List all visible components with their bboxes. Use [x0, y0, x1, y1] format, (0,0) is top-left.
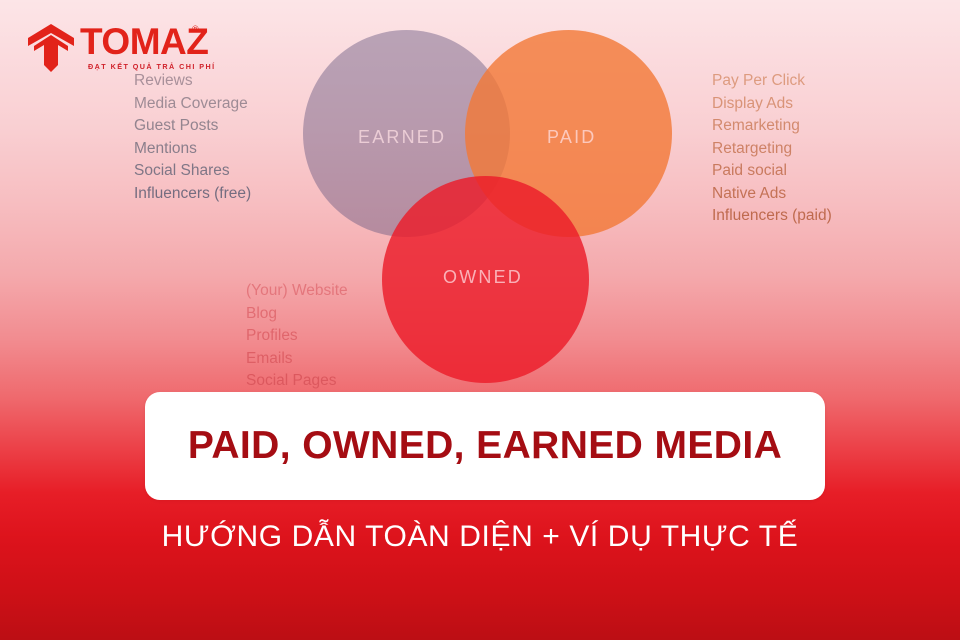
- list-item: (Your) Website: [246, 280, 348, 303]
- venn-circle-earned: [303, 30, 510, 237]
- venn-circle-owned: [382, 176, 589, 383]
- brand-wordmark: TOMAZ: [80, 22, 208, 62]
- list-item: Profiles: [246, 325, 348, 348]
- list-item: Mentions: [134, 138, 251, 161]
- list-item: Influencers (free): [134, 183, 251, 206]
- paid-media-list: Pay Per Click Display Ads Remarketing Re…: [712, 70, 832, 228]
- list-item: Blog: [246, 303, 348, 326]
- poster-canvas: TOMAZ ® ĐẠT KẾT QUẢ TRẢ CHI PHÍ EARNED P…: [0, 0, 960, 640]
- page-subtitle: HƯỚNG DẪN TOÀN DIỆN + VÍ DỤ THỰC TẾ: [0, 520, 960, 554]
- list-item: Native Ads: [712, 183, 832, 206]
- venn-label-owned: OWNED: [443, 267, 523, 288]
- page-title: PAID, OWNED, EARNED MEDIA: [188, 424, 782, 468]
- list-item: Media Coverage: [134, 93, 251, 116]
- list-item: Emails: [246, 348, 348, 371]
- venn-label-paid: PAID: [547, 127, 596, 148]
- owned-media-list: (Your) Website Blog Profiles Emails Soci…: [246, 280, 348, 393]
- title-card: PAID, OWNED, EARNED MEDIA: [145, 392, 825, 500]
- list-item: Social Pages: [246, 370, 348, 393]
- list-item: Display Ads: [712, 93, 832, 116]
- earned-media-list: Reviews Media Coverage Guest Posts Menti…: [134, 70, 251, 205]
- list-item: Influencers (paid): [712, 205, 832, 228]
- list-item: Pay Per Click: [712, 70, 832, 93]
- venn-label-earned: EARNED: [358, 127, 446, 148]
- registered-mark: ®: [192, 24, 199, 34]
- venn-circle-paid: [465, 30, 672, 237]
- list-item: Retargeting: [712, 138, 832, 161]
- list-item: Guest Posts: [134, 115, 251, 138]
- brand-logo: TOMAZ ® ĐẠT KẾT QUẢ TRẢ CHI PHÍ: [28, 22, 198, 74]
- upward-arrow-t-icon: [28, 24, 74, 72]
- list-item: Remarketing: [712, 115, 832, 138]
- list-item: Social Shares: [134, 160, 251, 183]
- list-item: Paid social: [712, 160, 832, 183]
- list-item: Reviews: [134, 70, 251, 93]
